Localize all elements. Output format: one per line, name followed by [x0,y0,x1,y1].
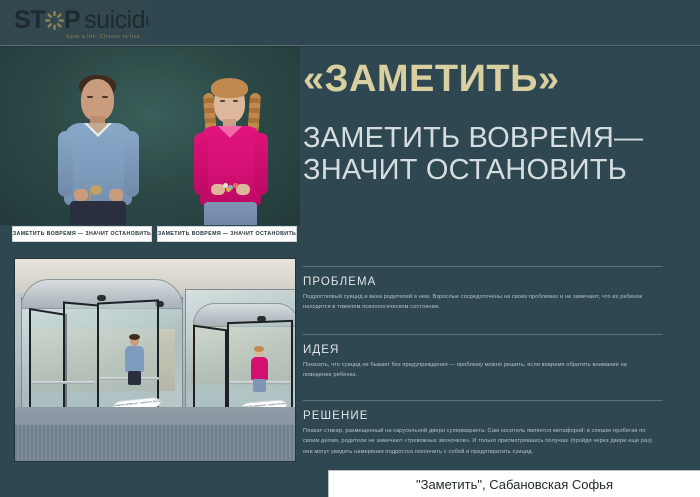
logo-text-p: P [64,8,80,33]
pill-3 [233,183,238,188]
boy-hand-right [109,189,123,201]
revolving-door-photo: ЗАМЕТИТЬ ВОВРЕМЯ — ЗНАЧИТ ОСТАНОВИТЬ ЗАМ… [14,258,296,462]
caption-text: "Заметить", Сабановская Софья [416,477,613,492]
poster-canvas: ST Psuicide [0,0,700,497]
logo-text-suicide: suicide [84,6,148,34]
section-reshenie: РЕШЕНИЕ Плакат-стикер, размещенный на ка… [303,400,663,457]
door-figure-boy-hair [129,334,140,340]
poster-badge-left-label: ЗАМЕТИТЬ ВОВРЕМЯ — ЗНАЧИТ ОСТАНОВИТЬ [13,231,151,237]
girl-hair [211,78,248,98]
poster-badge-right: ЗАМЕТИТЬ ВОВРЕМЯ — ЗНАЧИТ ОСТАНОВИТЬ [157,226,297,242]
logo-wordmark: ST Psuicide [14,8,148,33]
girl-eye-right [233,100,238,102]
girl-arm-right [254,133,268,195]
girl-jeans [204,202,257,225]
logo-sun-icon [45,11,64,30]
door-figure-girl [247,347,271,393]
rope-knot [90,185,102,195]
girl-eye-left [220,100,225,102]
logo-tagline: Save a life. Choose to live. [66,35,142,40]
door-handrail-left-back [31,381,95,384]
door-floor-mat [15,425,296,461]
section-problema: ПРОБЛЕМА Подростковый суицид и вина роди… [303,266,663,313]
section-ideya-body: Показать, что суицид не бывает без преду… [303,360,655,381]
bottom-strip [0,470,328,497]
door-figure-girl-hair [254,346,264,352]
poster-badge-left: ЗАМЕТИТЬ ВОВРЕМЯ — ЗНАЧИТ ОСТАНОВИТЬ [12,226,152,242]
girl-arm-left [194,133,208,195]
section-divider-ideya [303,334,663,335]
boy-head [81,79,114,121]
pills-group [223,183,239,191]
brand-logo: ST Psuicide [14,8,148,33]
logo-bar: ST Psuicide [0,0,148,45]
page-title: «ЗАМЕТИТЬ» [303,60,665,100]
boy-eye-left [87,96,93,98]
door-figure-girl-jeans [253,379,266,392]
boy-arm-right [124,131,139,197]
boy-eye-right [102,96,108,98]
boy-trousers [70,201,126,225]
section-divider-problema [303,266,663,267]
photo-subject-boy [48,71,148,225]
section-reshenie-heading: РЕШЕНИЕ [303,410,663,422]
door-figure-girl-shirt [251,357,268,380]
section-ideya: ИДЕЯ Показать, что суицид не бывает без … [303,334,663,381]
section-reshenie-body: Плакат-стикер, размещенный на карусельно… [303,426,655,457]
boy-arm-left [58,131,73,197]
pill-4 [226,187,231,192]
door-sensor-left [97,295,106,301]
logo-text-stop: ST [14,8,45,33]
hero-text-block: «ЗАМЕТИТЬ» ЗАМЕТИТЬ ВОВРЕМЯ— ЗНАЧИТ ОСТА… [303,60,665,187]
section-ideya-heading: ИДЕЯ [303,344,663,356]
boy-hand-left [74,189,88,201]
section-problema-heading: ПРОБЛЕМА [303,276,663,288]
door-figure-boy-trousers [128,371,141,385]
section-problema-body: Подростковый суицид и вина родителей в н… [303,292,655,313]
door-figure-boy-shirt [125,346,144,372]
page-subtitle: ЗАМЕТИТЬ ВОВРЕМЯ— ЗНАЧИТ ОСТАНОВИТЬ [303,122,665,187]
girl-polo-shirt [200,126,261,206]
photo-subject-girl [180,71,280,225]
poster-badge-right-label: ЗАМЕТИТЬ ВОВРЕМЯ — ЗНАЧИТ ОСТАНОВИТЬ [158,231,296,237]
caption-bar: "Заметить", Сабановская Софья [328,470,700,497]
door-figure-boy [121,335,147,387]
section-divider-reshenie [303,400,663,401]
teens-photo [0,47,300,225]
